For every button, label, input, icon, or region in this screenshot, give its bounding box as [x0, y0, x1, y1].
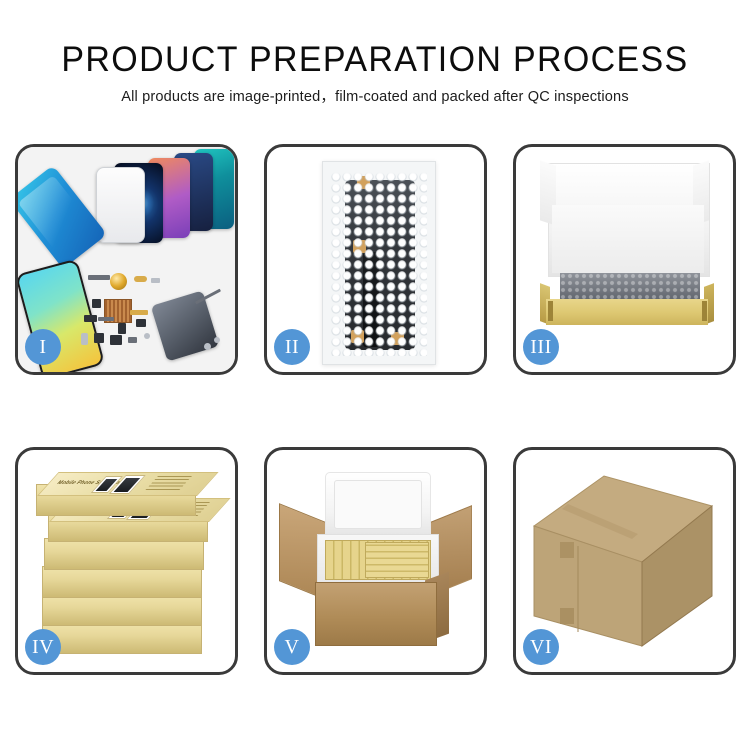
- spare-part: [134, 276, 147, 282]
- spare-part: [118, 323, 126, 334]
- page-title: PRODUCT PREPARATION PROCESS: [11, 0, 739, 80]
- speaker-coil-part: [110, 273, 127, 290]
- foam-lid: [325, 472, 431, 542]
- spare-part: [144, 333, 150, 339]
- process-step-grid: I II: [15, 144, 736, 678]
- process-step-3: III: [513, 144, 736, 375]
- spare-part: [128, 337, 137, 343]
- spare-part: [84, 315, 97, 322]
- packed-boxes: [365, 542, 429, 578]
- process-step-2: II: [264, 144, 487, 375]
- process-step-6: VI: [513, 447, 736, 675]
- retail-box-stack: Mobile Phone Spare Parts Mobile Phone Sp…: [26, 470, 232, 660]
- spare-part: [151, 278, 160, 283]
- gray-foam-padding: [560, 273, 700, 301]
- spare-part: [94, 333, 104, 343]
- spare-part: [130, 310, 148, 315]
- process-step-4: Mobile Phone Spare Parts Mobile Phone Sp…: [15, 447, 238, 675]
- retail-box-top-face: Mobile Phone Spare Parts: [37, 472, 219, 496]
- page-header: PRODUCT PREPARATION PROCESS All products…: [0, 0, 750, 106]
- spare-part: [214, 337, 220, 343]
- retail-box: [44, 538, 204, 570]
- step-badge-1: I: [25, 329, 61, 365]
- spare-part: [98, 317, 114, 321]
- process-step-5: V: [264, 447, 487, 675]
- box-front-panel: [546, 299, 708, 325]
- bubble-wrap-bag: [322, 161, 436, 365]
- spare-part: [136, 319, 146, 327]
- retail-box-printed: Mobile Phone Spare Parts: [36, 484, 196, 516]
- spare-part: [204, 343, 211, 350]
- step-badge-2: II: [274, 329, 310, 365]
- spare-part: [81, 333, 88, 345]
- white-foam-sheet: [552, 205, 704, 273]
- step-badge-3: III: [523, 329, 559, 365]
- retail-box: [42, 566, 202, 598]
- spare-part: [92, 299, 101, 308]
- carton-tape-tab: [560, 542, 574, 558]
- page-subtitle: All products are image-printed，film-coat…: [0, 80, 750, 106]
- spare-part: [88, 275, 110, 280]
- carton-front-face: [315, 582, 437, 646]
- bubble-highlight: [331, 172, 427, 356]
- step-badge-5: V: [274, 629, 310, 665]
- spare-part: [110, 335, 122, 345]
- step-badge-4: IV: [25, 629, 61, 665]
- carton-tape-tab: [560, 608, 574, 624]
- box-notch: [548, 301, 553, 321]
- box-notch: [702, 301, 707, 321]
- retail-box: [42, 622, 202, 654]
- box-spec-text: [144, 476, 192, 492]
- retail-box: [42, 594, 202, 626]
- process-step-1: I: [15, 144, 238, 375]
- step-badge-6: VI: [523, 629, 559, 665]
